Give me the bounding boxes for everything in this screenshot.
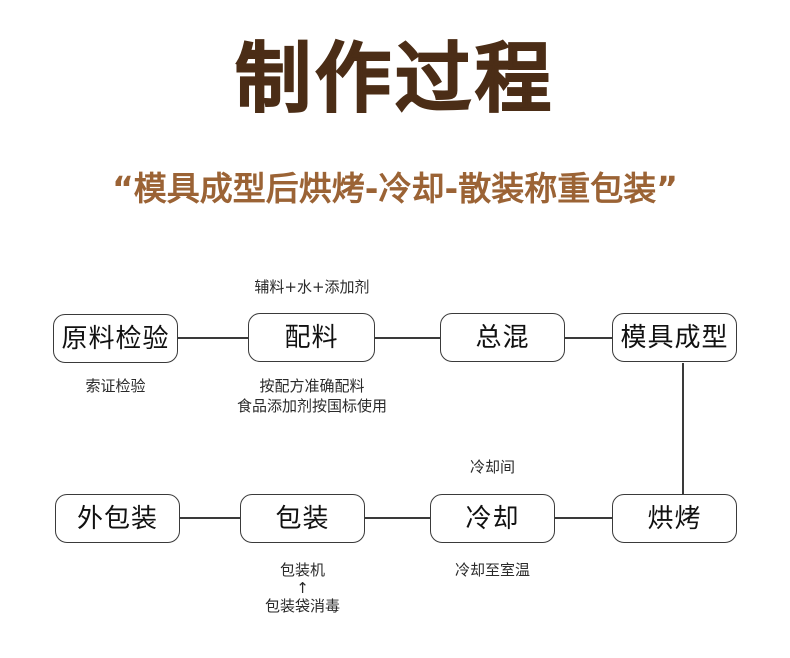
node-packaging[interactable]: 包装 <box>240 494 365 543</box>
node-ingredient-dosing[interactable]: 配料 <box>248 313 375 362</box>
top-label-cooling-room: 冷却间 <box>430 457 555 477</box>
node-label: 包装 <box>275 504 329 534</box>
node-baking[interactable]: 烘烤 <box>612 494 737 543</box>
node-label: 烘烤 <box>647 504 701 534</box>
caption-cooling: 冷却至室温 <box>420 560 565 580</box>
node-label: 模具成型 <box>620 323 728 353</box>
caption-packaging-machine: 包装机 <box>240 560 365 580</box>
node-total-mixing[interactable]: 总混 <box>440 313 565 362</box>
node-label: 原料检验 <box>61 324 169 354</box>
node-label: 配料 <box>284 323 338 353</box>
top-label-ingredient-dosing: 辅料+水+添加剂 <box>236 277 388 297</box>
process-flowchart: 原料检验 索证检验 配料 辅料+水+添加剂 按配方准确配料 食品添加剂按国标使用… <box>0 0 790 658</box>
node-label: 总混 <box>475 323 529 353</box>
node-outer-packaging[interactable]: 外包装 <box>55 494 180 543</box>
node-label: 外包装 <box>77 504 158 534</box>
arrow-up-icon: ↑ <box>240 581 365 595</box>
node-cooling[interactable]: 冷却 <box>430 494 555 543</box>
node-label: 冷却 <box>465 504 519 534</box>
node-raw-material-inspection[interactable]: 原料检验 <box>53 314 178 363</box>
caption-bag-sterilization: 包装袋消毒 <box>225 596 380 616</box>
caption-raw-material-inspection: 索证检验 <box>43 376 188 396</box>
node-mold-forming[interactable]: 模具成型 <box>612 313 737 362</box>
caption-ingredient-dosing: 按配方准确配料 食品添加剂按国标使用 <box>216 376 408 416</box>
